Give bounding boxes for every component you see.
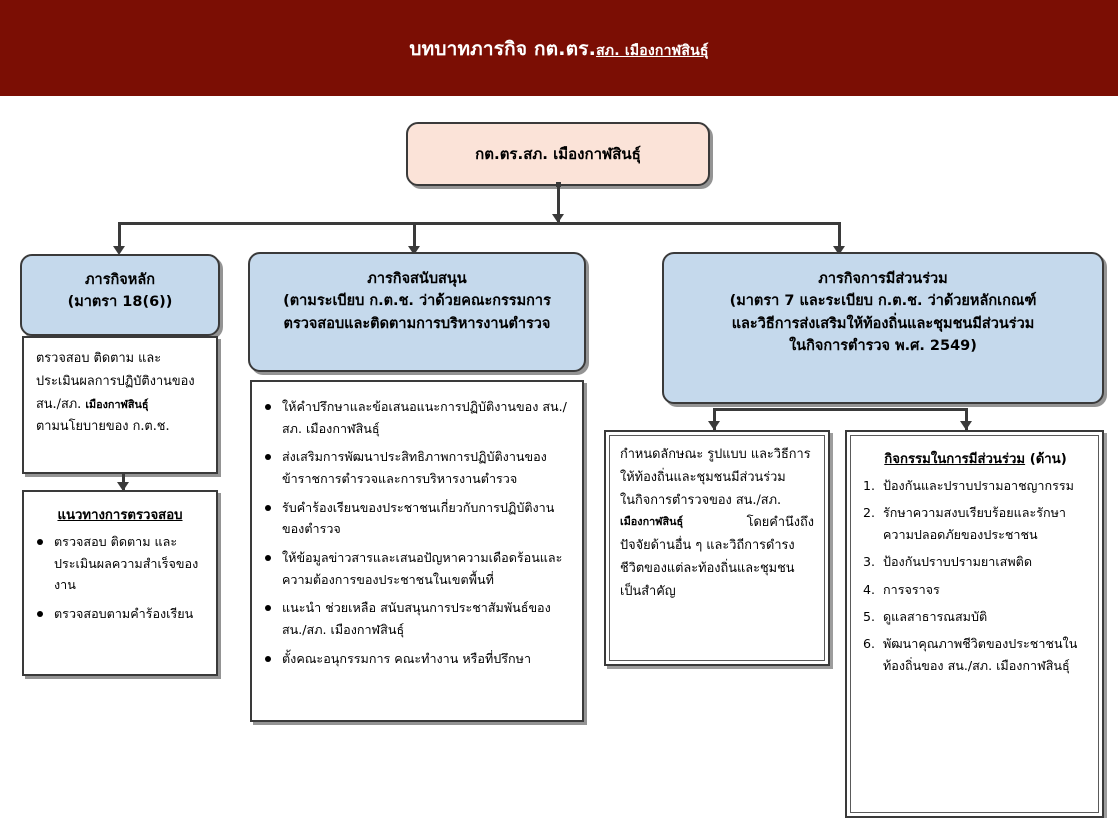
connector-participation-left-arrow <box>708 421 720 430</box>
list-item: รับคำร้องเรียนของประชาชนเกี่ยวกับการปฏิบ… <box>262 497 570 540</box>
participation-activities-title: กิจกรรมในการมีส่วนร่วม (ด้าน) <box>863 448 1088 469</box>
psl-line-6: ชีวิตของแต่ละท้องถิ่นและชุมชน <box>620 558 814 581</box>
list-item: ให้คำปรึกษาและข้อเสนอแนะการปฏิบัติงานของ… <box>262 396 570 439</box>
list-item: การจราจร <box>863 579 1088 600</box>
page-title-sub: สภ. เมืองกาฬสินธุ์ <box>596 43 709 59</box>
participation-activities-list: ป้องกันและปราบปรามอาชญากรรม รักษาความสงบ… <box>863 475 1088 676</box>
list-item: ป้องกันปราบปรามยาเสพติด <box>863 551 1088 572</box>
list-item: ตรวจสอบตามคำร้องเรียน <box>34 603 206 625</box>
branch-main-mission-header-line2: (มาตรา 18(6)) <box>22 291 218 313</box>
list-item: ดูแลสาธารณสมบัติ <box>863 606 1088 627</box>
main-mission-line-4: ตามนโยบายของ ก.ต.ช. <box>36 416 206 439</box>
psl-line-4b: โดยคำนึงถึง <box>747 512 814 535</box>
list-item: ส่งเสริมการพัฒนาประสิทธิภาพการปฏิบัติงาน… <box>262 446 570 489</box>
branch-participation-header-line2: (มาตรา 7 และระเบียบ ก.ต.ช. ว่าด้วยหลักเก… <box>664 290 1102 312</box>
participation-activities-title-suffix: (ด้าน) <box>1030 452 1067 467</box>
main-mission-line-3a: สน./สภ. <box>36 397 81 412</box>
main-mission-line-1: ตรวจสอบ ติดตาม และ <box>36 348 206 371</box>
psl-line-4: เมืองกาฬสินธุ์ โดยคำนึงถึง <box>620 512 814 535</box>
support-mission-list: ให้คำปรึกษาและข้อเสนอแนะการปฏิบัติงานของ… <box>262 396 570 669</box>
list-item: รักษาความสงบเรียบร้อยและรักษาความปลอดภัย… <box>863 502 1088 545</box>
subbox-guideline-list: ตรวจสอบ ติดตาม และประเมินผลความสำเร็จของ… <box>34 531 206 625</box>
branch-support-header-line3: ตรวจสอบและติดตามการบริหารงานตำรวจ <box>250 313 584 335</box>
root-node-label: กต.ตร.สภ. เมืองกาฬสินธุ์ <box>408 124 708 184</box>
list-item: ตรวจสอบ ติดตาม และประเมินผลความสำเร็จของ… <box>34 531 206 596</box>
list-item: แนะนำ ช่วยเหลือ สนับสนุนการประชาสัมพันธ์… <box>262 597 570 640</box>
subbox-guideline-title: แนวทางการตรวจสอบ <box>34 504 206 525</box>
branch-main-mission-subbox[interactable]: แนวทางการตรวจสอบ ตรวจสอบ ติดตาม และประเม… <box>22 490 218 676</box>
branch-participation-header[interactable]: ภารกิจการมีส่วนร่วม (มาตรา 7 และระเบียบ … <box>662 252 1104 404</box>
psl-line-3: ในกิจการตำรวจของ สน./สภ. <box>620 490 814 513</box>
branch-support-mission-body[interactable]: ให้คำปรึกษาและข้อเสนอแนะการปฏิบัติงานของ… <box>250 380 584 722</box>
root-node-box[interactable]: กต.ตร.สภ. เมืองกาฬสินธุ์ <box>406 122 710 186</box>
participation-activities-title-underlined: กิจกรรมในการมีส่วนร่วม <box>884 452 1025 467</box>
main-mission-line-2: ประเมินผลการปฏิบัติงานของ <box>36 371 206 394</box>
branch-participation-header-line1: ภารกิจการมีส่วนร่วม <box>664 268 1102 290</box>
list-item: พัฒนาคุณภาพชีวิตของประชาชนในท้องถิ่นของ … <box>863 633 1088 676</box>
branch-participation-header-line4: ในกิจการตำรวจ พ.ศ. 2549) <box>664 335 1102 357</box>
list-item: ตั้งคณะอนุกรรมการ คณะทำงาน หรือที่ปรึกษา <box>262 648 570 670</box>
psl-line-4a: เมืองกาฬสินธุ์ <box>620 512 683 535</box>
branch-main-mission-body[interactable]: ตรวจสอบ ติดตาม และ ประเมินผลการปฏิบัติงา… <box>22 336 218 474</box>
branch-support-mission-header[interactable]: ภารกิจสนับสนุน (ตามระเบียบ ก.ต.ช. ว่าด้ว… <box>248 252 586 372</box>
list-item: ป้องกันและปราบปรามอาชญากรรม <box>863 475 1088 496</box>
branch-participation-header-line3: และวิธีการส่งเสริมให้ท้องถิ่นและชุมชนมีส… <box>664 313 1102 335</box>
participation-subbox-left-text: กำหนดลักษณะ รูปแบบ และวิธีการ ให้ท้องถิ่… <box>609 435 825 661</box>
connector-root-nub <box>556 182 561 187</box>
org-chart-canvas: กต.ตร.สภ. เมืองกาฬสินธุ์ ภารกิจหลัก (มาต… <box>0 96 1118 792</box>
participation-subbox-left[interactable]: กำหนดลักษณะ รูปแบบ และวิธีการ ให้ท้องถิ่… <box>604 430 830 666</box>
branch-main-mission-body-text: ตรวจสอบ ติดตาม และ ประเมินผลการปฏิบัติงา… <box>36 348 206 439</box>
psl-line-1: กำหนดลักษณะ รูปแบบ และวิธีการ <box>620 444 814 467</box>
main-mission-line-3b: เมืองกาฬสินธุ์ <box>85 398 148 411</box>
connector-participation-bus <box>713 408 967 411</box>
list-item: ให้ข้อมูลข่าวสารและเสนอปัญหาความเดือดร้อ… <box>262 547 570 590</box>
branch-support-header-line1: ภารกิจสนับสนุน <box>250 268 584 290</box>
psl-line-7: เป็นสำคัญ <box>620 581 814 604</box>
page-title-main: บทบาทภารกิจ กต.ตร. <box>409 38 596 60</box>
participation-subbox-right-inner: กิจกรรมในการมีส่วนร่วม (ด้าน) ป้องกันและ… <box>850 435 1099 813</box>
branch-main-mission-header[interactable]: ภารกิจหลัก (มาตรา 18(6)) <box>20 254 220 336</box>
psl-line-5: ปัจจัยด้านอื่น ๆ และวิถีการดำรง <box>620 535 814 558</box>
connector-bus-horizontal <box>118 222 840 225</box>
branch-main-mission-header-line1: ภารกิจหลัก <box>22 269 218 291</box>
page-title: บทบาทภารกิจ กต.ตร.สภ. เมืองกาฬสินธุ์ <box>0 34 1118 64</box>
page-header-banner: บทบาทภารกิจ กต.ตร.สภ. เมืองกาฬสินธุ์ <box>0 0 1118 96</box>
connector-participation-right-arrow <box>960 421 972 430</box>
participation-subbox-right[interactable]: กิจกรรมในการมีส่วนร่วม (ด้าน) ป้องกันและ… <box>845 430 1104 818</box>
branch-support-header-line2: (ตามระเบียบ ก.ต.ช. ว่าด้วยคณะกรรมการ <box>250 290 584 312</box>
psl-line-2: ให้ท้องถิ่นและชุมชนมีส่วนร่วม <box>620 467 814 490</box>
main-mission-line-3: สน./สภ. เมืองกาฬสินธุ์ <box>36 394 206 417</box>
